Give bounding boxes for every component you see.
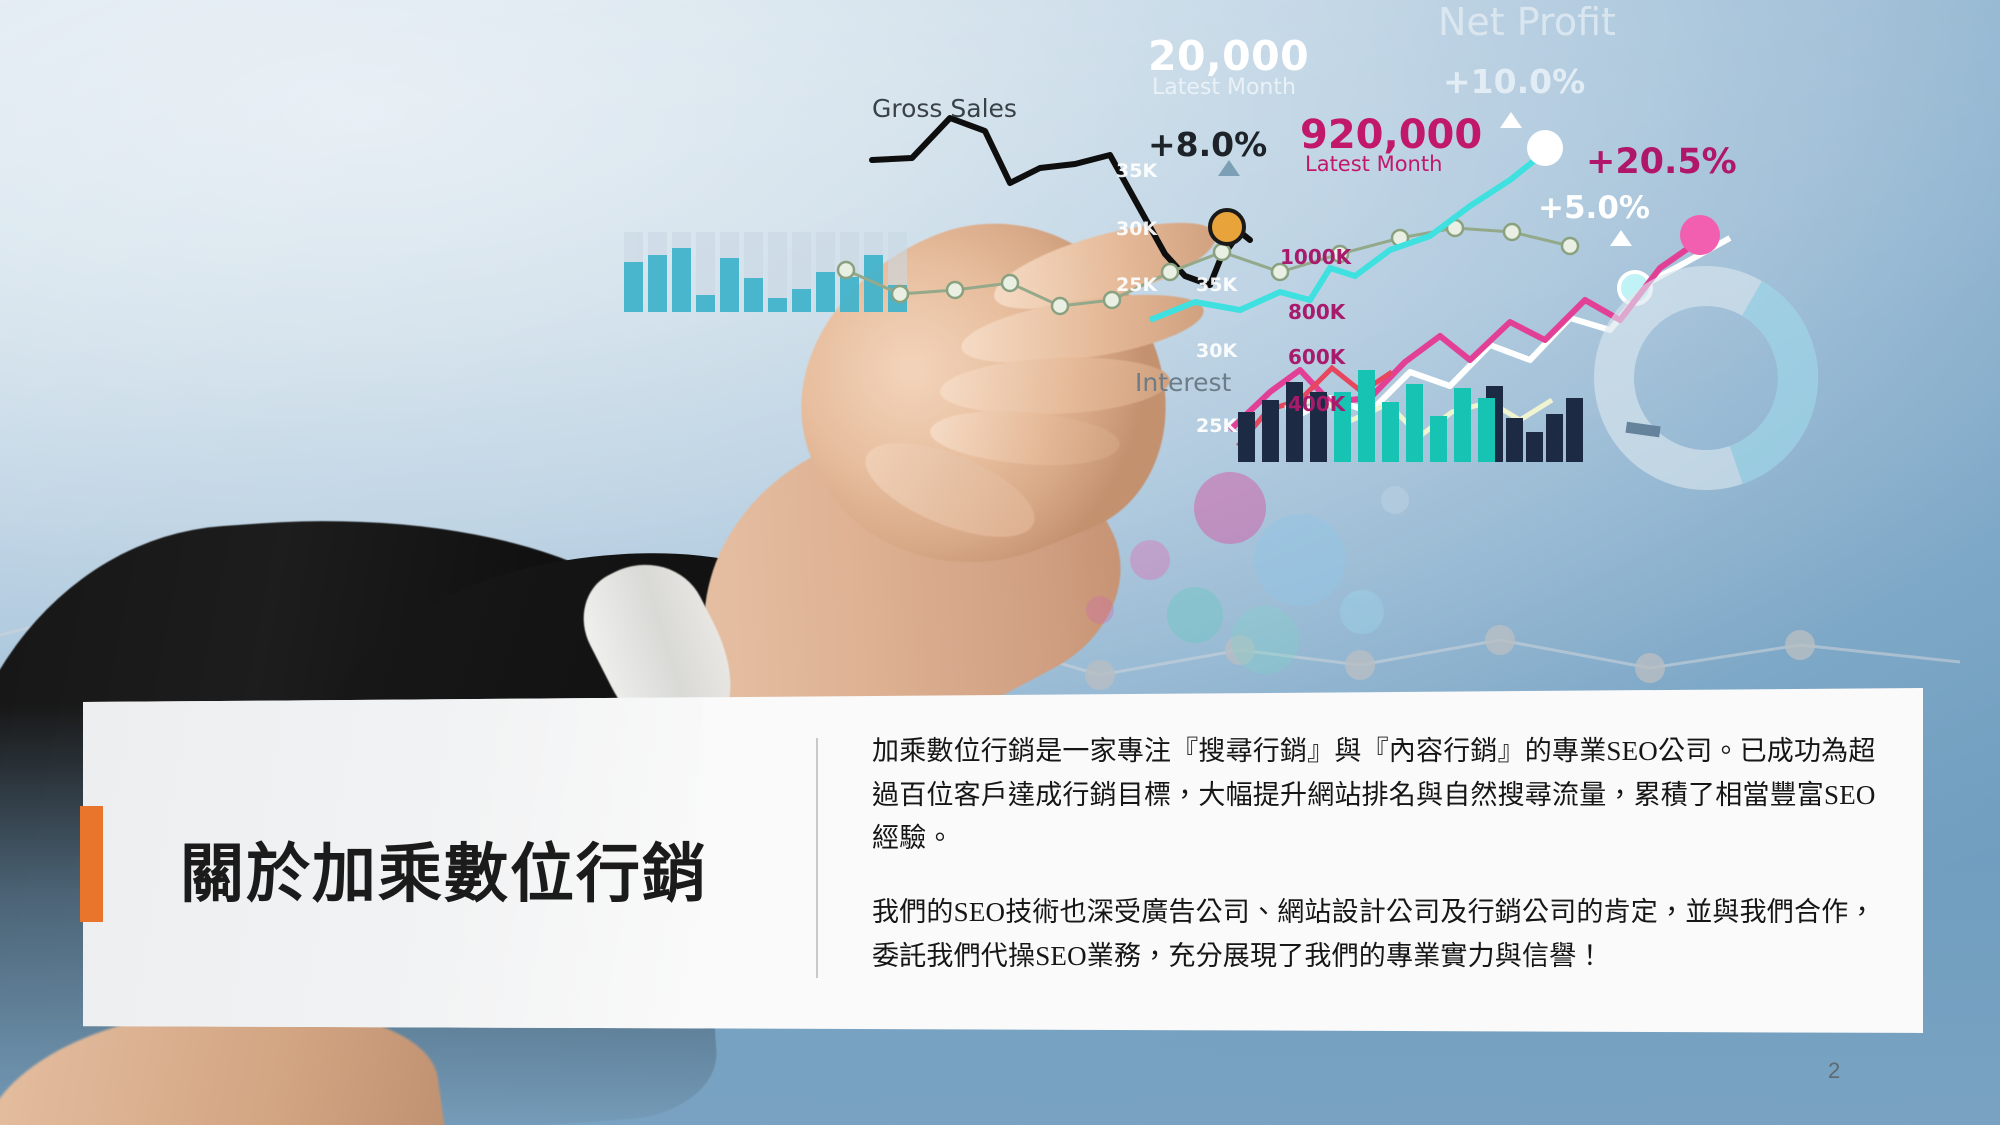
axis-tick-35k-b: 35K <box>1196 274 1237 296</box>
pct-5-label: +5.0% <box>1538 190 1650 226</box>
axis-tick-35k-a: 35K <box>1116 160 1157 182</box>
interest-label: Interest <box>1135 368 1231 397</box>
paragraph-1: 加乘數位行銷是一家專注『搜尋行銷』與『內容行銷』的專業SEO公司。已成功為超過百… <box>872 730 1892 861</box>
axis-tick-800k: 800K <box>1288 300 1345 324</box>
value-20000-label: 20,000 <box>1148 32 1309 80</box>
value-20000-sublabel: Latest Month <box>1152 75 1296 100</box>
net-profit-label: Net Profit <box>1438 0 1616 44</box>
axis-tick-600k: 600K <box>1288 345 1345 369</box>
axis-tick-1000k: 1000K <box>1280 245 1351 269</box>
axis-tick-30k-b: 30K <box>1196 340 1237 362</box>
axis-tick-400k: 400K <box>1288 392 1345 416</box>
paragraph-2: 我們的SEO技術也深受廣告公司、網站設計公司及行銷公司的肯定，並與我們合作，委託… <box>872 891 1892 978</box>
orange-accent-bar <box>80 806 103 922</box>
page-number: 2 <box>1828 1058 1840 1084</box>
pct-20-5-label: +20.5% <box>1586 142 1737 182</box>
axis-tick-25k-b: 25K <box>1196 415 1237 437</box>
data-point-marker <box>1208 208 1246 246</box>
body-text: 加乘數位行銷是一家專注『搜尋行銷』與『內容行銷』的專業SEO公司。已成功為超過百… <box>872 730 1892 979</box>
axis-tick-25k-a: 25K <box>1116 274 1157 296</box>
up-arrow-icon <box>1500 112 1522 128</box>
gross-sales-label: Gross Sales <box>872 94 1017 123</box>
vertical-divider <box>816 738 818 978</box>
axis-tick-30k-a: 30K <box>1116 218 1157 240</box>
pct-8-label: +8.0% <box>1148 125 1267 164</box>
slide: Gross Sales 20,000 Latest Month +8.0% Ne… <box>0 0 2000 1125</box>
up-arrow-icon <box>1610 230 1632 246</box>
pct-10-label: +10.0% <box>1443 62 1585 101</box>
up-arrow-icon <box>1218 160 1240 176</box>
value-920000-sublabel: Latest Month <box>1305 152 1442 176</box>
page-title: 關於加乘數位行銷 <box>180 841 800 908</box>
